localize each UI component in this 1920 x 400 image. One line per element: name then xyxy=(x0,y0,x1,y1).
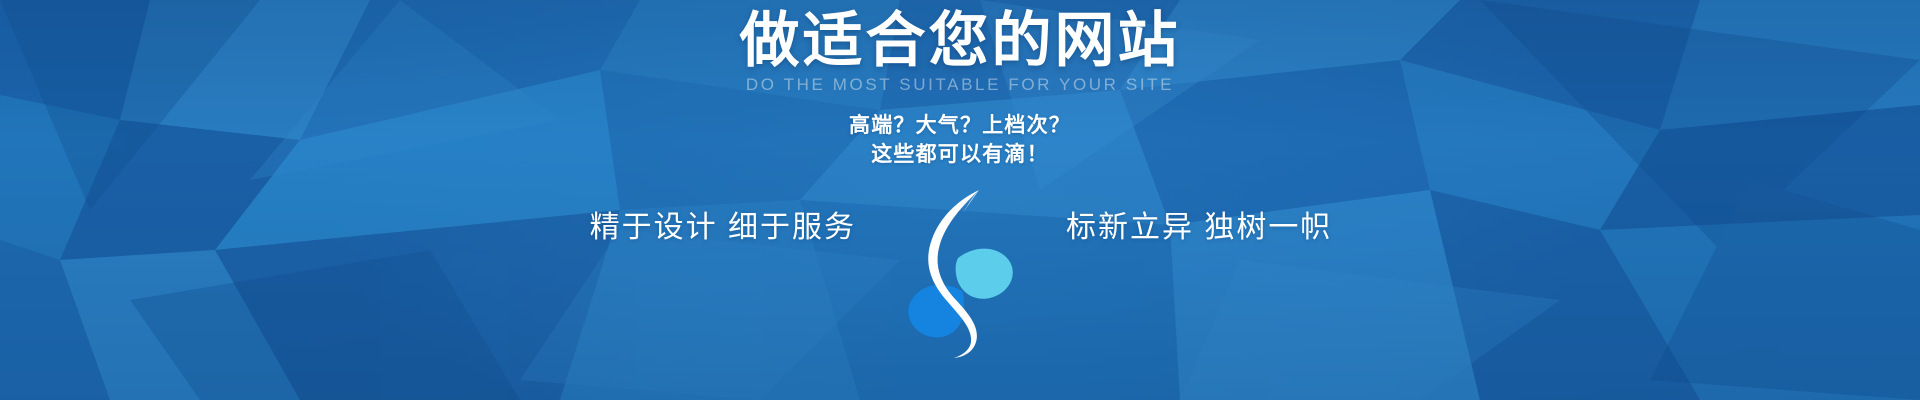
page-title: 做适合您的网站 xyxy=(740,6,1181,77)
pitch-line-1: 高端？大气？上档次？ xyxy=(849,112,1071,141)
leaf-swirl-logo-icon xyxy=(900,184,1020,359)
pitch-line-2: 这些都可以有滴！ xyxy=(849,141,1071,170)
tagline-right: 标新立异 独树一帜 xyxy=(1020,202,1350,246)
tagline-left: 精于设计 细于服务 xyxy=(570,202,900,246)
subtitle-english: DO THE MOST SUITABLE FOR YOUR SITE xyxy=(746,75,1174,95)
promo-banner: 做适合您的网站 DO THE MOST SUITABLE FOR YOUR SI… xyxy=(0,0,1920,400)
banner-content: 做适合您的网站 DO THE MOST SUITABLE FOR YOUR SI… xyxy=(0,0,1920,400)
pitch-block: 高端？大气？上档次？ 这些都可以有滴！ xyxy=(849,112,1071,170)
tagline-row: 精于设计 细于服务 标新立异 独树一帜 xyxy=(0,184,1920,359)
